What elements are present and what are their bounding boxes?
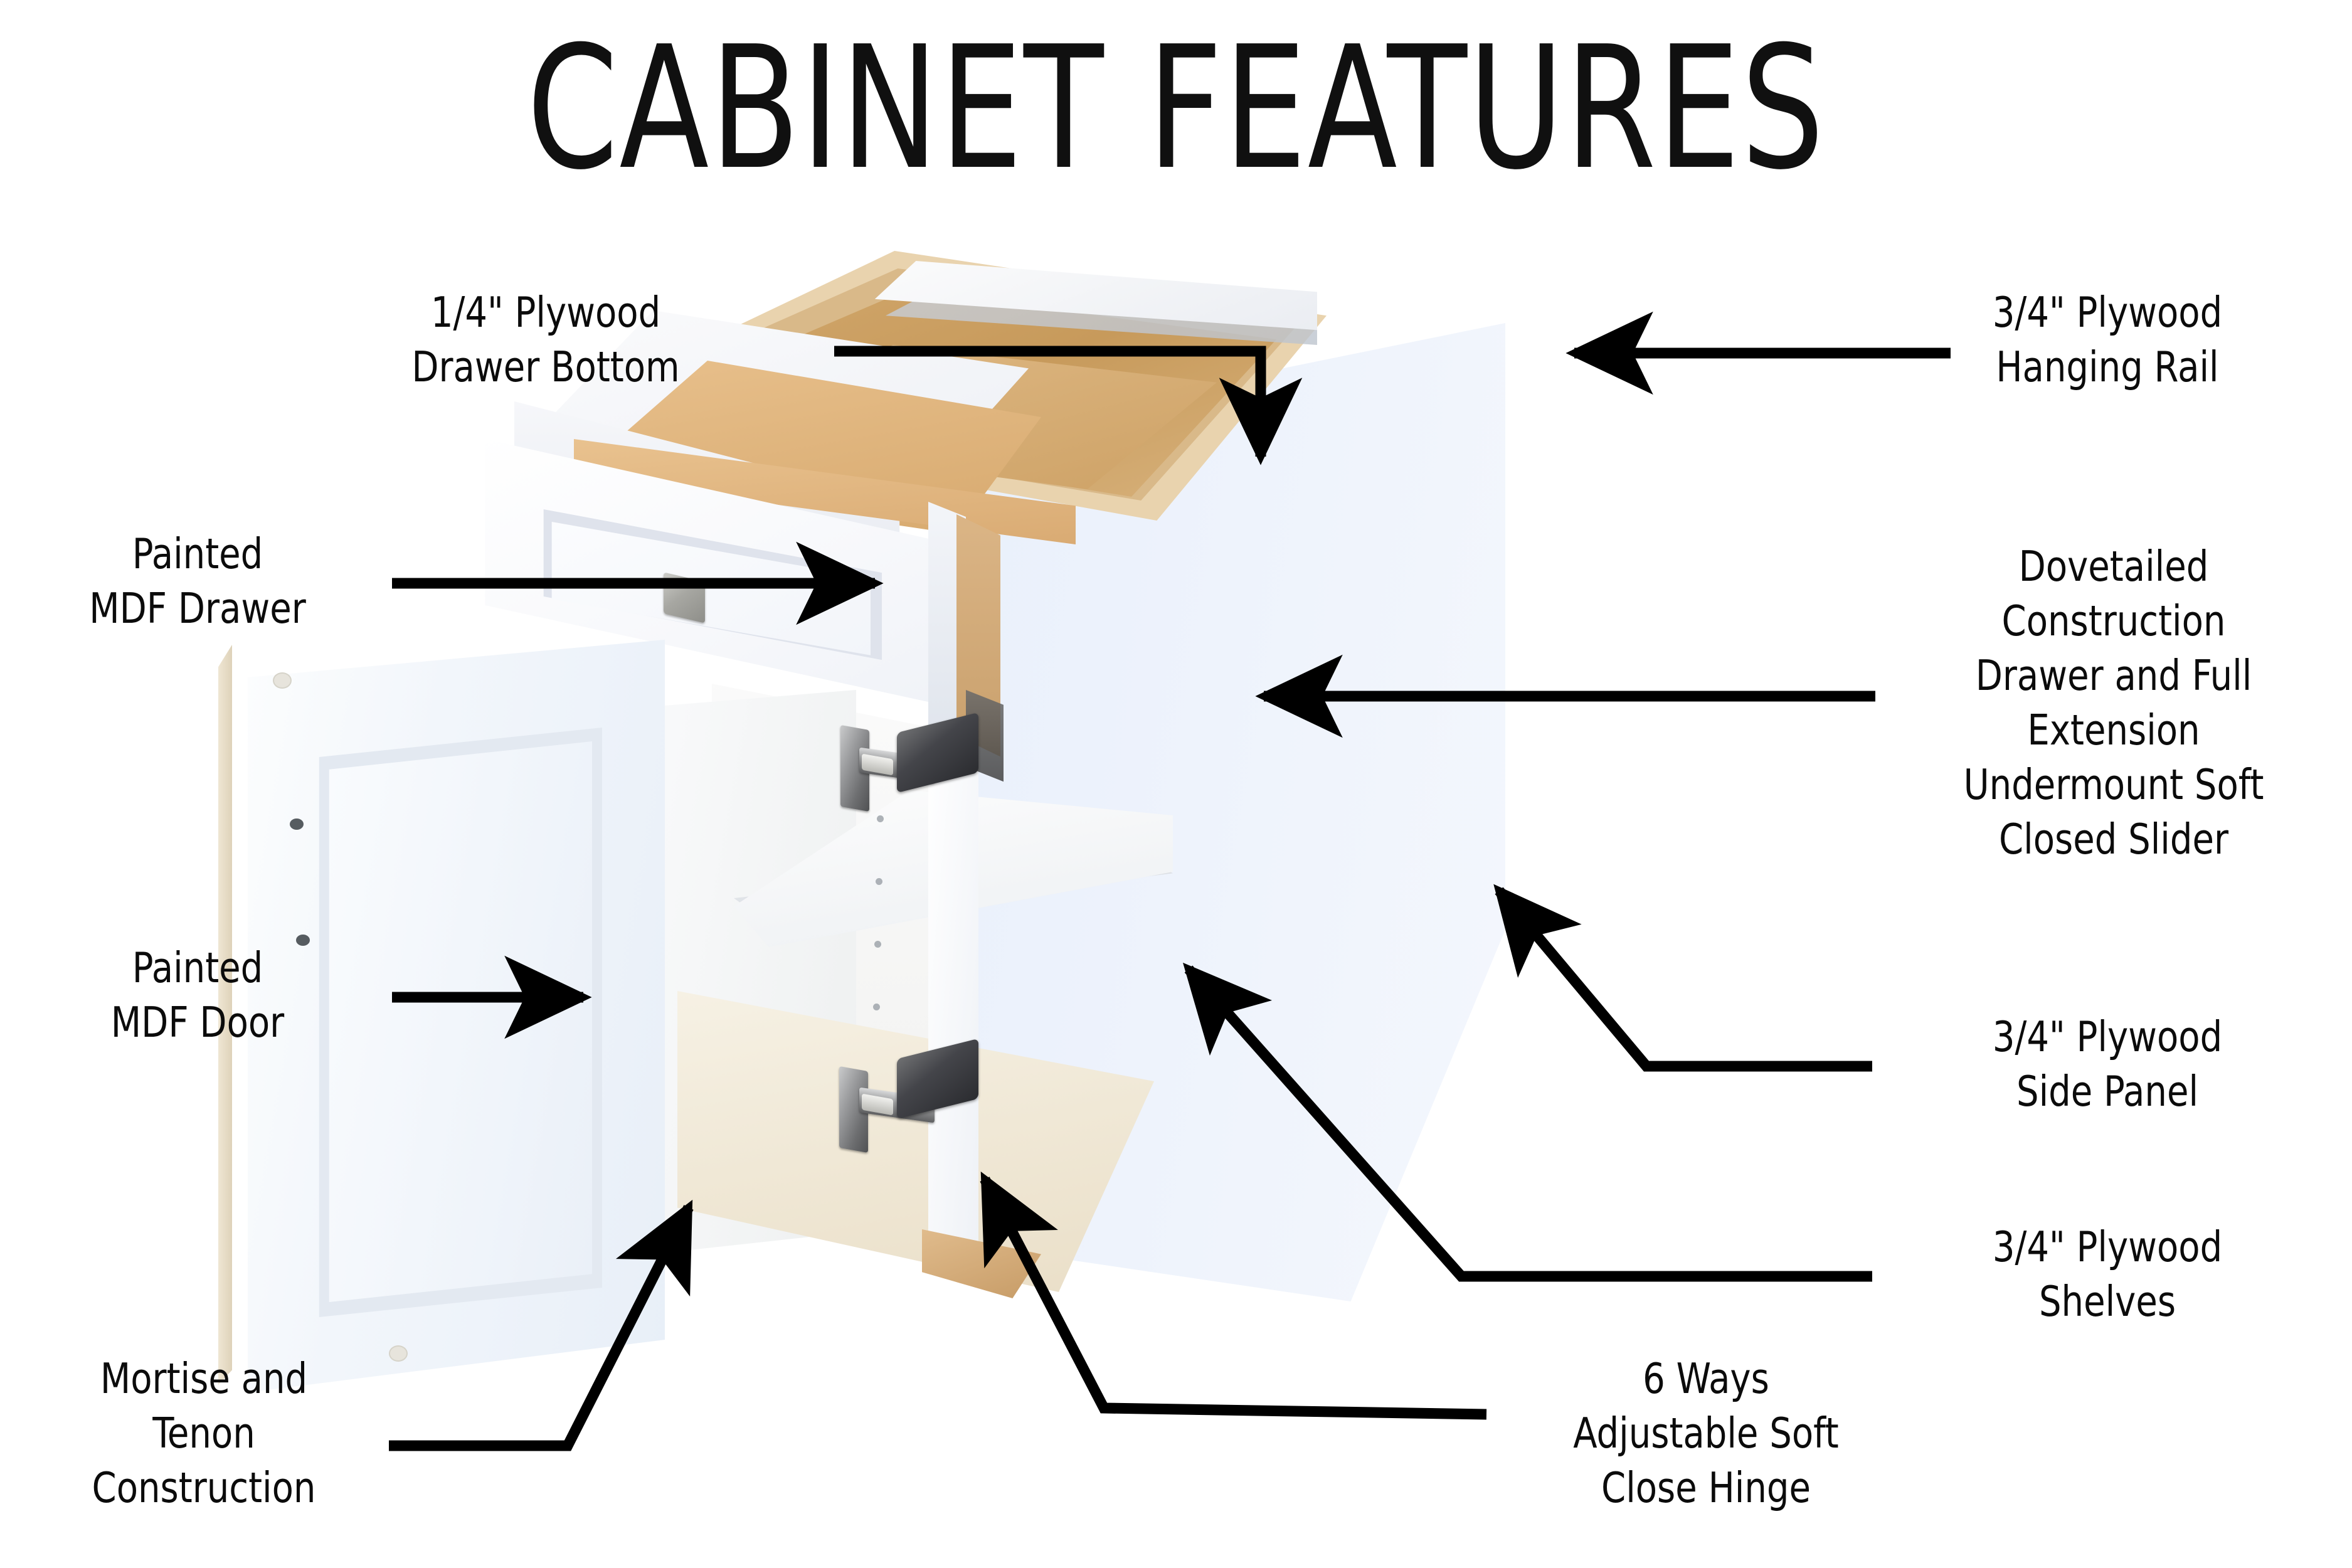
callout-plywood-shelves: 3/4" Plywood Shelves bbox=[1927, 1220, 2289, 1329]
callout-plywood-side-panel: 3/4" Plywood Side Panel bbox=[1927, 1010, 2289, 1119]
callout-mortise-and-tenon: Mortise and Tenon Construction bbox=[38, 1352, 370, 1515]
callout-painted-mdf-door: Painted MDF Door bbox=[31, 941, 364, 1050]
callout-soft-close-hinge: 6 Ways Adjustable Soft Close Hinge bbox=[1513, 1352, 1899, 1515]
callout-plywood-drawer-bottom: 1/4" Plywood Drawer Bottom bbox=[365, 285, 727, 395]
leader-plywood-drawer-bottom bbox=[834, 351, 1261, 457]
callout-dovetailed-construction: Dovetailed Construction Drawer and Full … bbox=[1915, 539, 2312, 867]
leader-plywood-side-panel bbox=[1499, 891, 1872, 1066]
poster-canvas: CABINET FEATURES bbox=[0, 0, 2352, 1568]
callout-painted-mdf-drawer: Painted MDF Drawer bbox=[31, 527, 364, 636]
callout-plywood-hanging-rail: 3/4" Plywood Hanging Rail bbox=[1927, 285, 2289, 395]
leader-plywood-shelves bbox=[1189, 969, 1872, 1276]
leader-mortise-and-tenon bbox=[389, 1207, 689, 1446]
